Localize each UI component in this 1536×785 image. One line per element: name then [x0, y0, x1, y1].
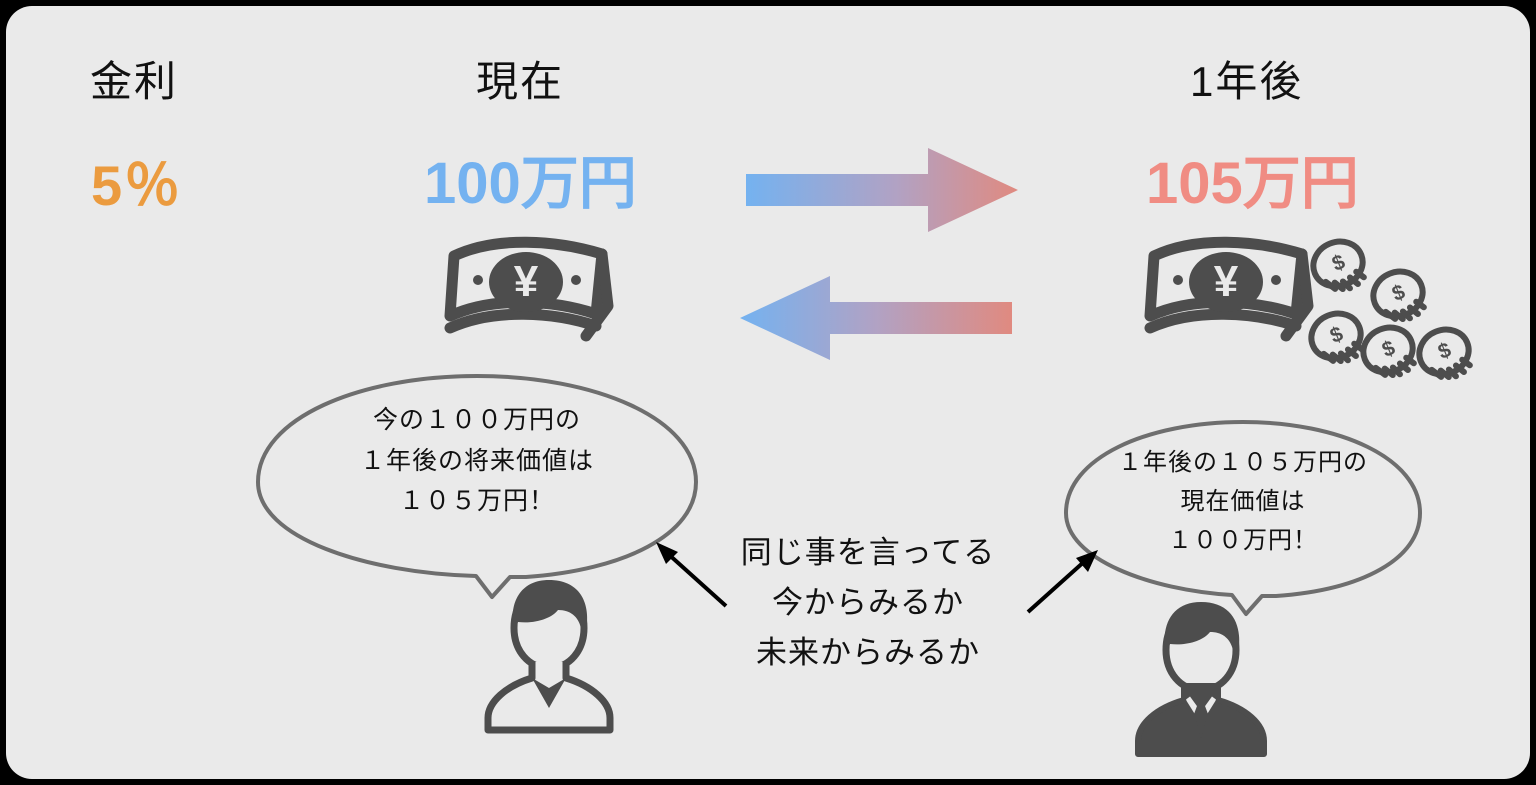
pointer-arrow-right-icon: [1018, 542, 1108, 622]
column-header-one-year-later: 1年後: [1190, 48, 1303, 109]
value-interest-rate: 5％: [91, 141, 182, 222]
screenshot-canvas: 金利 現在 1年後 5％ 100万円 105万円: [0, 0, 1536, 785]
person-casual-avatar: [474, 566, 624, 736]
svg-text:$: $: [1379, 336, 1399, 362]
center-note-text: 同じ事を言ってる今からみるか未来からみるか: [718, 528, 1018, 679]
svg-text:$: $: [1329, 250, 1349, 276]
svg-text:$: $: [1327, 322, 1347, 348]
pointer-arrow-left-icon: [646, 536, 736, 616]
bill-currency-symbol: ¥: [1214, 257, 1239, 306]
arrow-left-icon: [732, 268, 1012, 368]
value-present-amount: 100万円: [424, 136, 637, 220]
svg-text:$: $: [1435, 338, 1455, 364]
column-header-interest-rate: 金利: [90, 48, 178, 109]
speech-bubble-right-text: １年後の１０５万円の現在価値は１００万円！: [1062, 444, 1424, 561]
diagram-board: 金利 現在 1年後 5％ 100万円 105万円: [6, 6, 1530, 779]
arrow-right-icon: [746, 140, 1026, 240]
bill-currency-symbol: ¥: [514, 257, 539, 306]
banknote-yen-icon: ¥: [436, 218, 636, 358]
coins-dollar-icon: $ $: [1304, 232, 1484, 392]
value-future-amount: 105万円: [1146, 136, 1359, 220]
svg-text:$: $: [1389, 280, 1409, 306]
speech-bubble-left-text: 今の１００万円の１年後の将来価値は１０５万円！: [254, 400, 700, 522]
column-header-present: 現在: [476, 48, 564, 109]
person-suit-avatar: [1126, 588, 1276, 758]
